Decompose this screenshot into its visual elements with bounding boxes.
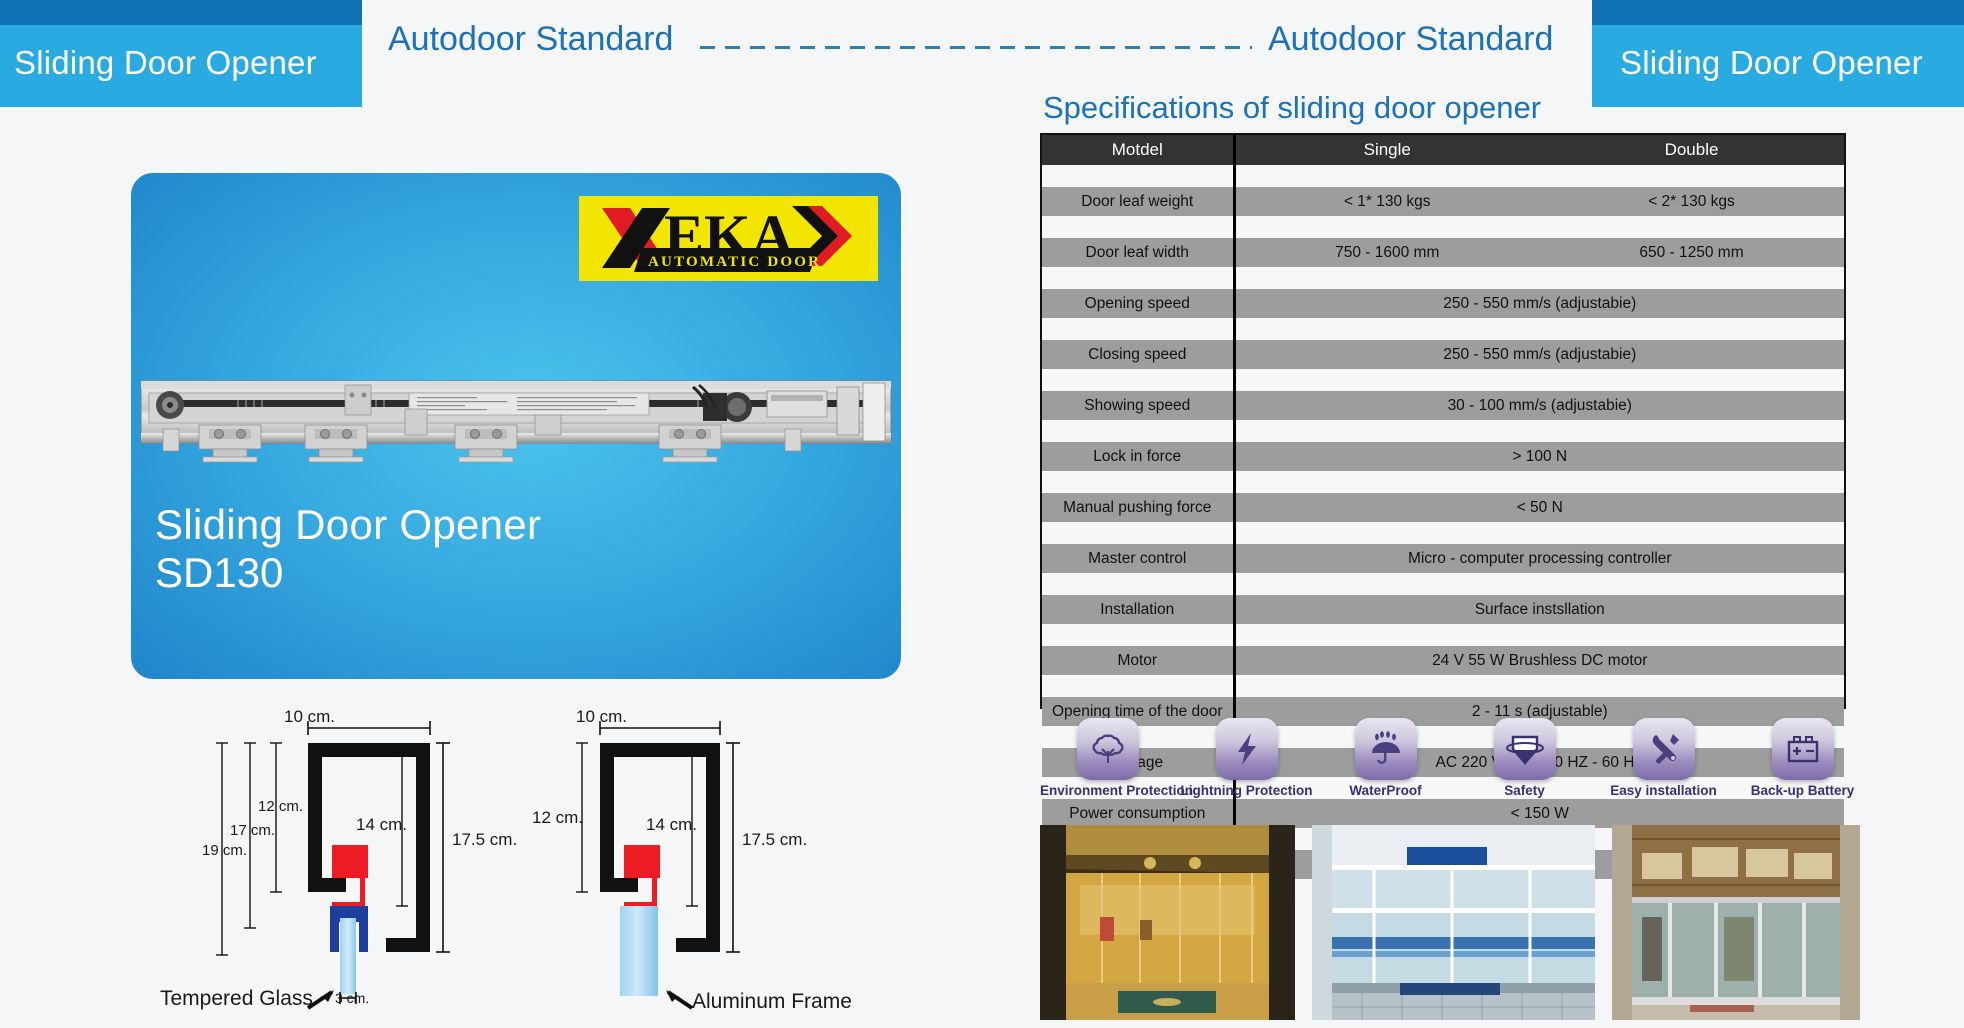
table-spacer-row (1042, 369, 1844, 391)
table-spacer-row (1042, 624, 1844, 646)
dim-top-width-left: 10 cm. (284, 707, 335, 727)
table-cell-double: < 2* 130 kgs (1539, 187, 1844, 216)
table-cell-value: Surface instsllation (1234, 595, 1844, 624)
section-diagrams: 10 cm. 14 cm. 12 cm. 17 cm. 19 cm. 17.5 … (180, 690, 900, 1020)
dim-top-width-right: 10 cm. (576, 707, 627, 727)
table-row: Opening speed250 - 550 mm/s (adjustabie) (1042, 289, 1844, 318)
feature-label: Easy installation (1596, 784, 1731, 799)
table-cell-label: Showing speed (1042, 391, 1234, 420)
diagram-tempered-glass: 10 cm. 14 cm. 12 cm. 17 cm. 19 cm. 17.5 … (180, 690, 530, 1020)
table-cell-value: 30 - 100 mm/s (adjustabie) (1234, 391, 1844, 420)
battery-icon (1772, 718, 1834, 780)
table-cell (1234, 216, 1539, 238)
dim-17-5cm-right: 17.5 cm. (742, 830, 807, 850)
dim-17cm: 17 cm. (230, 822, 275, 839)
feature-label: Back-up Battery (1735, 784, 1870, 799)
table-cell (1234, 522, 1539, 544)
umbrella-icon (1355, 718, 1417, 780)
table-cell (1539, 216, 1844, 238)
table-cell (1042, 318, 1234, 340)
table-spacer-row (1042, 675, 1844, 697)
table-spacer-row (1042, 471, 1844, 493)
dim-12cm-right: 12 cm. (532, 808, 583, 828)
hotel-lobby-sliding-door-photo (1040, 825, 1295, 1020)
svg-text:AUTOMATIC DOOR: AUTOMATIC DOOR (648, 254, 821, 270)
table-cell-label: Installation (1042, 595, 1234, 624)
header-band-left: Sliding Door Opener (0, 0, 362, 107)
specifications-heading: Specifications of sliding door opener (1043, 92, 1541, 123)
table-cell (1042, 420, 1234, 442)
product-card: EKA AUTOMATIC DOOR (131, 173, 901, 679)
table-cell-label: Manual pushing force (1042, 493, 1234, 522)
shield-icon (1494, 718, 1556, 780)
feature-waterproof[interactable]: WaterProof (1318, 718, 1453, 799)
building-entrance-sliding-door-photo (1612, 825, 1860, 1020)
dim-glass-thickness: 3 cm. (335, 990, 369, 1006)
diagram-aluminum-frame: 10 cm. 14 cm. 12 cm. 17.5 cm. Aluminum F… (520, 690, 870, 1020)
lightning-icon (1216, 718, 1278, 780)
autodoor-standard-right: Autodoor Standard (1268, 22, 1553, 56)
table-cell-double: 650 - 1250 mm (1539, 238, 1844, 267)
feature-label: Environment Protection (1040, 784, 1175, 799)
table-cell-value: 250 - 550 mm/s (adjustabie) (1234, 340, 1844, 369)
datasheet-page: Sliding Door Opener Autodoor Standard Au… (0, 0, 1964, 1028)
table-cell (1042, 624, 1234, 646)
table-spacer-row (1042, 522, 1844, 544)
table-cell (1234, 573, 1539, 595)
table-cell-single: < 1* 130 kgs (1234, 187, 1539, 216)
table-spacer-row (1042, 573, 1844, 595)
header-band-right: Sliding Door Opener (1592, 0, 1964, 107)
table-cell (1234, 624, 1539, 646)
header-band-right-label: Sliding Door Opener (1592, 46, 1964, 79)
column-header-double: Double (1539, 135, 1844, 165)
feature-lightning-protection[interactable]: Lightning Protection (1179, 718, 1314, 799)
table-cell (1539, 471, 1844, 493)
table-cell-label: Closing speed (1042, 340, 1234, 369)
table-cell (1042, 165, 1234, 187)
table-cell (1539, 675, 1844, 697)
column-header-model: Motdel (1042, 135, 1234, 165)
xeka-logo: EKA AUTOMATIC DOOR (579, 196, 878, 281)
tools-icon (1633, 718, 1695, 780)
tree-icon (1077, 718, 1139, 780)
table-cell-label: Lock in force (1042, 442, 1234, 471)
table-cell-value: < 50 N (1234, 493, 1844, 522)
table-cell-label: Motor (1042, 646, 1234, 675)
table-row: Door leaf weight< 1* 130 kgs< 2* 130 kgs (1042, 187, 1844, 216)
feature-label: Lightning Protection (1179, 784, 1314, 799)
feature-label: WaterProof (1318, 784, 1453, 799)
specifications-table-container: Motdel Single Double Door leaf weight< 1… (1040, 133, 1846, 709)
table-cell (1539, 573, 1844, 595)
table-cell (1042, 675, 1234, 697)
table-row: Lock in force> 100 N (1042, 442, 1844, 471)
dim-19cm: 19 cm. (202, 842, 247, 859)
table-cell-value: > 100 N (1234, 442, 1844, 471)
table-spacer-row (1042, 165, 1844, 187)
dim-17-5cm-left: 17.5 cm. (452, 830, 517, 850)
table-cell-label: Door leaf width (1042, 238, 1234, 267)
table-spacer-row (1042, 318, 1844, 340)
dim-inner-height-left: 14 cm. (356, 815, 407, 835)
table-cell (1234, 318, 1539, 340)
feature-label: Safety (1457, 784, 1592, 799)
caption-aluminum-frame: Aluminum Frame (692, 990, 852, 1014)
table-cell-value: Micro - computer processing controller (1234, 544, 1844, 573)
table-row: Motor24 V 55 W Brushless DC motor (1042, 646, 1844, 675)
xeka-logo-graphic: EKA AUTOMATIC DOOR (586, 200, 871, 278)
dim-inner-height-right: 14 cm. (646, 815, 697, 835)
table-cell (1539, 318, 1844, 340)
table-cell (1042, 471, 1234, 493)
table-cell (1539, 420, 1844, 442)
table-cell (1539, 624, 1844, 646)
table-cell (1042, 216, 1234, 238)
dim-12cm: 12 cm. (258, 798, 303, 815)
table-cell (1234, 165, 1539, 187)
table-cell (1234, 471, 1539, 493)
table-cell-label: Door leaf weight (1042, 187, 1234, 216)
table-cell (1042, 522, 1234, 544)
table-spacer-row (1042, 420, 1844, 442)
table-cell (1042, 267, 1234, 289)
feature-backup-battery[interactable]: Back-up Battery (1735, 718, 1870, 799)
table-cell (1539, 369, 1844, 391)
feature-environment-protection[interactable]: Environment Protection (1040, 718, 1175, 799)
product-model: SD130 (155, 546, 283, 600)
autodoor-standard-left: Autodoor Standard (388, 22, 673, 56)
table-spacer-row (1042, 216, 1844, 238)
dashed-separator-line (700, 46, 1252, 49)
caption-tempered-glass: Tempered Glass (160, 987, 313, 1011)
table-cell (1234, 369, 1539, 391)
table-cell-label: Opening speed (1042, 289, 1234, 318)
table-cell (1042, 573, 1234, 595)
header-band-left-label: Sliding Door Opener (0, 46, 362, 79)
table-cell-label: Master control (1042, 544, 1234, 573)
product-title: Sliding Door Opener (155, 498, 541, 552)
table-cell-single: 750 - 1600 mm (1234, 238, 1539, 267)
column-header-single: Single (1234, 135, 1539, 165)
table-cell (1539, 165, 1844, 187)
modern-office-sliding-door-photo (1312, 825, 1595, 1020)
table-cell-value: 24 V 55 W Brushless DC motor (1234, 646, 1844, 675)
table-header-row: Motdel Single Double (1042, 135, 1844, 165)
table-cell (1234, 267, 1539, 289)
table-cell-value: 250 - 550 mm/s (adjustabie) (1234, 289, 1844, 318)
table-row: Master controlMicro - computer processin… (1042, 544, 1844, 573)
opener-mechanism-image (137, 367, 895, 477)
feature-safety[interactable]: Safety (1457, 718, 1592, 799)
feature-icons-row: Environment Protection Lightning Protect… (1040, 718, 1870, 818)
table-spacer-row (1042, 267, 1844, 289)
table-row: Closing speed250 - 550 mm/s (adjustabie) (1042, 340, 1844, 369)
table-cell (1234, 675, 1539, 697)
table-row: Manual pushing force< 50 N (1042, 493, 1844, 522)
table-cell (1539, 522, 1844, 544)
table-row: InstallationSurface instsllation (1042, 595, 1844, 624)
application-photos-row (1040, 825, 1870, 1020)
table-cell (1539, 267, 1844, 289)
table-cell (1234, 420, 1539, 442)
table-row: Showing speed30 - 100 mm/s (adjustabie) (1042, 391, 1844, 420)
table-cell (1042, 369, 1234, 391)
table-row: Door leaf width750 - 1600 mm650 - 1250 m… (1042, 238, 1844, 267)
feature-easy-installation[interactable]: Easy installation (1596, 718, 1731, 799)
